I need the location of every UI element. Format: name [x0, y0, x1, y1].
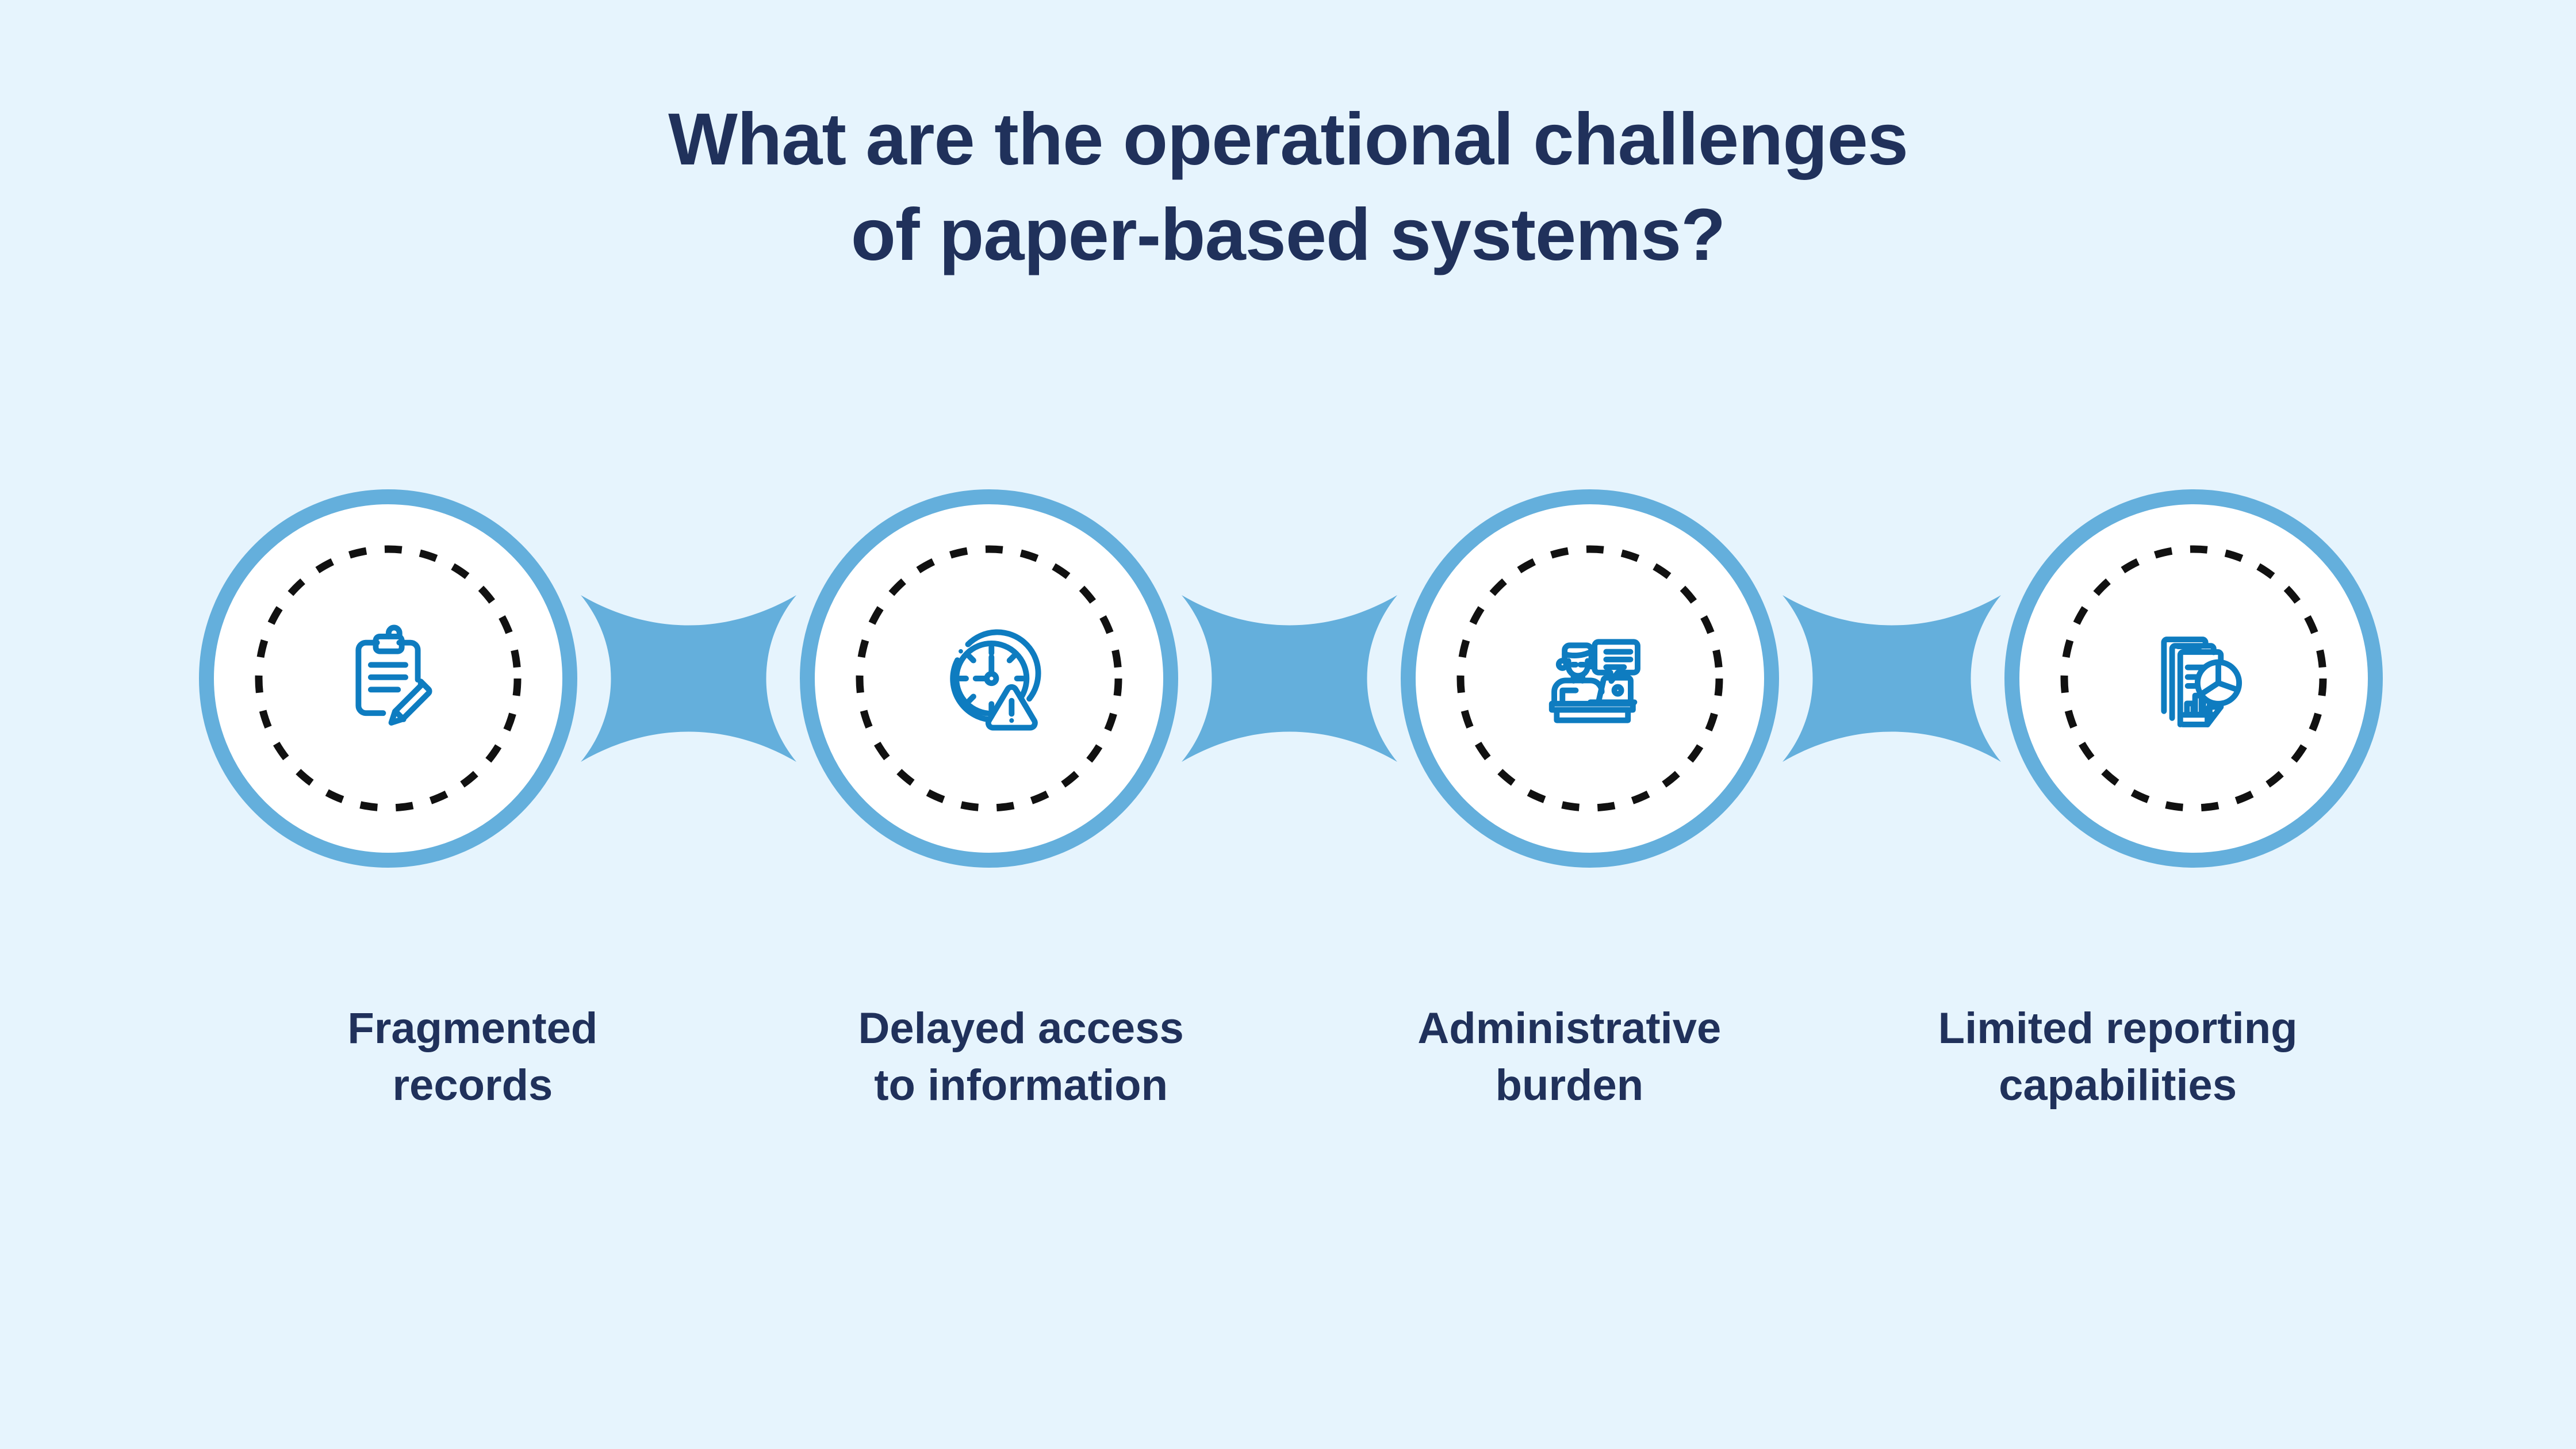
step-2-label-line-1: Delayed access — [747, 1000, 1295, 1057]
step-1-label-line-2: records — [198, 1057, 747, 1114]
step-label-3: Administrative burden — [1295, 1000, 1844, 1114]
step-label-4: Limited reporting capabilities — [1843, 1000, 2392, 1114]
documents-charts-icon — [2164, 639, 2239, 724]
step-4-label-line-1: Limited reporting — [1843, 1000, 2392, 1057]
step-1-label-line-1: Fragmented — [198, 1000, 747, 1057]
step-2-label-line-2: to information — [747, 1057, 1295, 1114]
connector-2-3 — [1182, 595, 1397, 762]
step-label-1: Fragmented records — [198, 1000, 747, 1114]
step-circle-3[interactable] — [1408, 497, 1772, 860]
step-circle-1[interactable] — [206, 497, 570, 860]
step-4-label-line-2: capabilities — [1843, 1057, 2392, 1114]
clipboard-pencil-icon — [358, 627, 429, 723]
connector-1-2 — [581, 595, 796, 762]
connector-3-4 — [1782, 595, 2001, 762]
connectors — [581, 595, 2001, 762]
step-1-outer-ring — [206, 497, 570, 860]
step-label-2: Delayed access to information — [747, 1000, 1295, 1114]
step-4-outer-ring — [2012, 497, 2375, 860]
title-line-2: of paper-based systems? — [0, 187, 2576, 283]
step-labels-row: Fragmented records Delayed access to inf… — [198, 1000, 2392, 1114]
infographic-canvas: What are the operational challenges of p… — [0, 0, 2576, 1449]
step-3-dashed-ring — [1460, 549, 1719, 808]
person-laptop-chat-icon — [1552, 642, 1638, 720]
step-4-dashed-ring — [2064, 549, 2323, 808]
title-line-1: What are the operational challenges — [0, 92, 2576, 187]
step-circle-4[interactable] — [2012, 497, 2375, 860]
clock-warning-icon — [953, 632, 1038, 727]
step-3-outer-ring — [1408, 497, 1772, 860]
step-2-dashed-ring — [860, 549, 1118, 808]
step-circle-2[interactable] — [807, 497, 1171, 860]
step-3-label-line-2: burden — [1295, 1057, 1844, 1114]
step-2-outer-ring — [807, 497, 1171, 860]
step-3-label-line-1: Administrative — [1295, 1000, 1844, 1057]
step-1-dashed-ring — [259, 549, 517, 808]
page-title: What are the operational challenges of p… — [0, 92, 2576, 283]
